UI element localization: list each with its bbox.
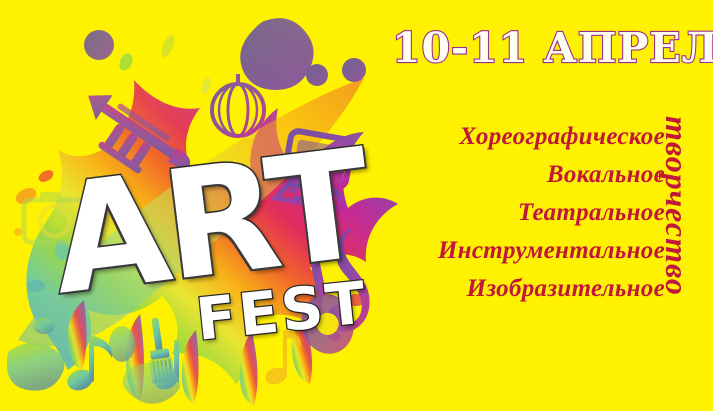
paint-blob-icon-small-b bbox=[342, 58, 366, 82]
music-note-icon-a bbox=[64, 336, 112, 394]
art-fest-poster: ART FEST 10-11 АПРЕЛЯ Хореографическое В… bbox=[0, 0, 713, 411]
vertical-creativity-label: творчество bbox=[661, 116, 693, 346]
paintbrush-icon bbox=[143, 316, 175, 384]
list-item: Театральное bbox=[395, 194, 665, 232]
discipline-list: Хореографическое Вокальное Театральное И… bbox=[395, 118, 665, 308]
disco-ball-icon bbox=[212, 74, 264, 136]
paint-blob-icon-small-a bbox=[84, 30, 114, 60]
paint-blob-icon-small-c bbox=[306, 64, 328, 86]
list-item: Вокальное bbox=[395, 156, 665, 194]
event-date-headline: 10-11 АПРЕЛЯ bbox=[392, 28, 692, 69]
fest-logo-text: FEST bbox=[193, 273, 371, 349]
list-item: Инструментальное bbox=[395, 232, 665, 270]
cool-paint-blobs bbox=[7, 318, 180, 404]
list-item: Хореографическое bbox=[395, 118, 665, 156]
purple-blob-group bbox=[84, 18, 366, 90]
list-item: Изобразительное bbox=[395, 270, 665, 308]
music-note-icon-b bbox=[152, 340, 181, 393]
paint-blob-icon-large bbox=[240, 18, 313, 90]
